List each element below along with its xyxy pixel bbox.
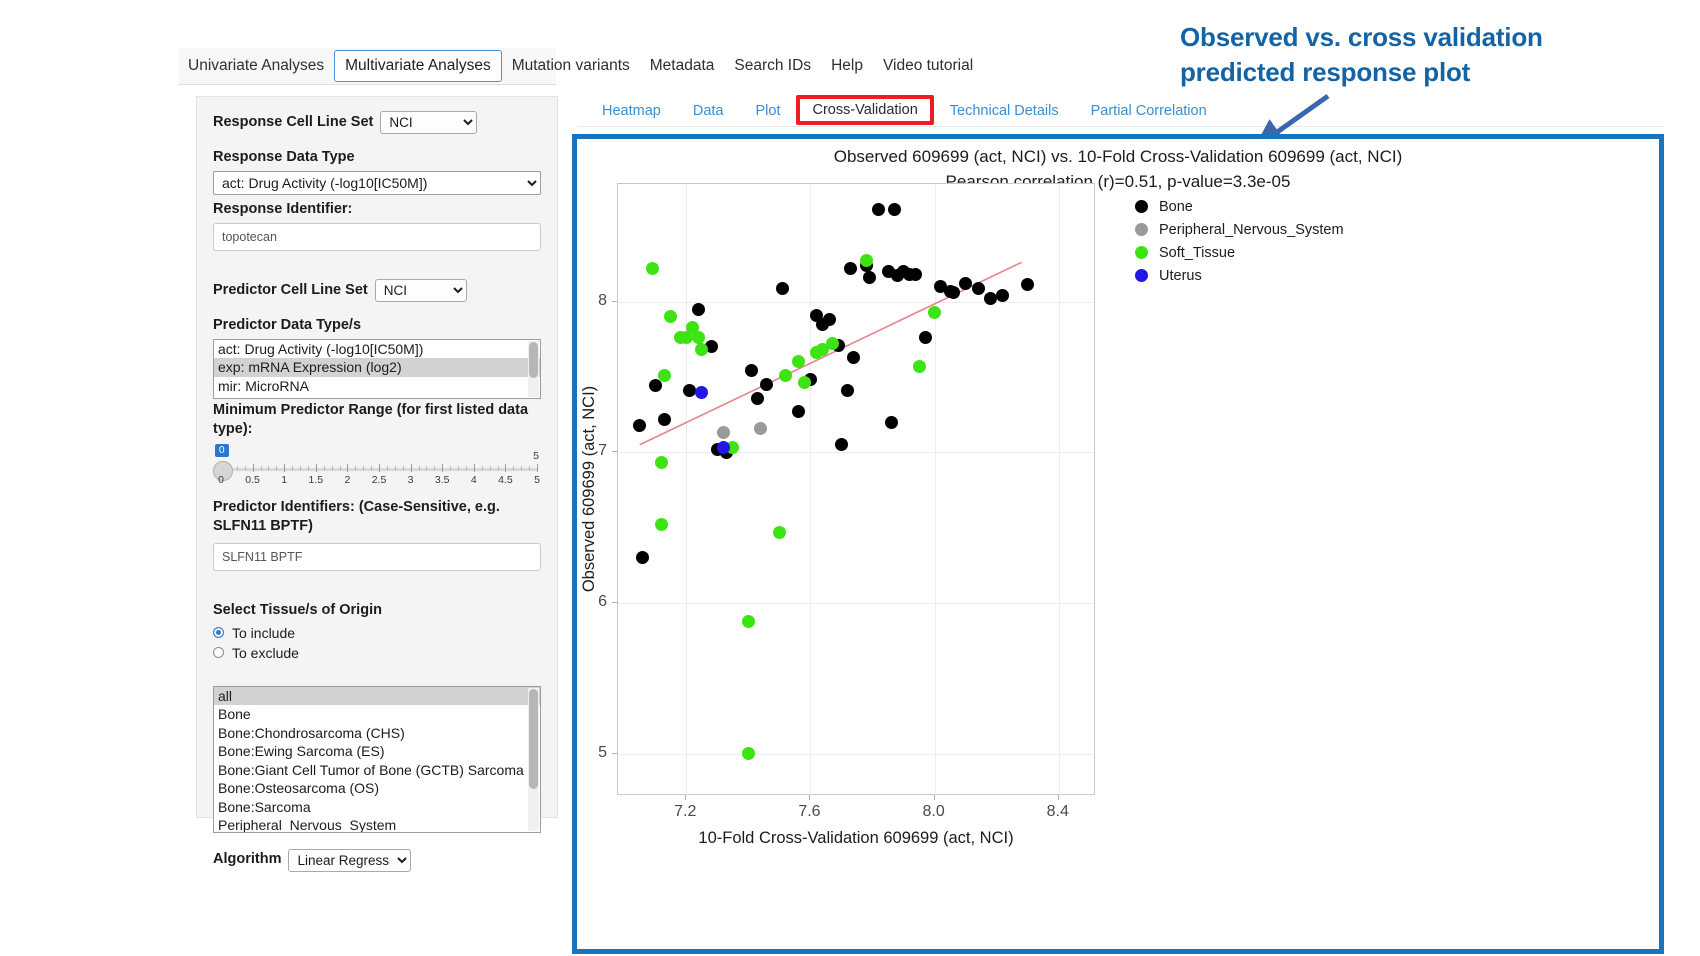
tissue-option[interactable]: Bone:Osteosarcoma (OS): [214, 779, 540, 798]
subtab-plot[interactable]: Plot: [739, 100, 796, 122]
trend-line: [618, 184, 1096, 796]
slider-tick-label: 1.5: [308, 474, 323, 486]
y-tick-label: 8: [598, 292, 607, 310]
tab-search-ids[interactable]: Search IDs: [724, 51, 821, 82]
plot-axes-box: [617, 183, 1095, 795]
radio-include-icon[interactable]: [213, 627, 224, 638]
slider-tick-label: 5: [534, 474, 540, 486]
predictor-cell-line-set-label: Predictor Cell Line Set: [213, 281, 368, 301]
legend-item: Bone: [1135, 195, 1344, 218]
predictor-data-type-option[interactable]: exp: mRNA Expression (log2): [214, 358, 540, 377]
listbox-scroll-thumb[interactable]: [529, 342, 538, 378]
min-predictor-range-label: Minimum Predictor Range (for first liste…: [213, 401, 541, 440]
tissue-option[interactable]: Bone:Ewing Sarcoma (ES): [214, 742, 540, 761]
slider-tick-label: 0.5: [245, 474, 260, 486]
response-data-type-label: Response Data Type: [213, 148, 541, 168]
y-tick-mark: [612, 753, 617, 754]
tissue-option[interactable]: Peripheral_Nervous_System: [214, 816, 540, 833]
x-tick-mark: [809, 795, 810, 800]
response-cell-line-set-select[interactable]: NCI: [380, 111, 477, 134]
slider-tick-label: 4: [471, 474, 477, 486]
x-tick-label: 8.0: [922, 803, 944, 821]
scatter-point: [754, 422, 767, 435]
scatter-point: [972, 282, 985, 295]
legend-label: Peripheral_Nervous_System: [1159, 222, 1344, 238]
legend-dot-icon: [1135, 223, 1148, 236]
y-tick-mark: [612, 301, 617, 302]
predictor-data-type-option[interactable]: mth: DNA 850K Methylation: [214, 395, 540, 399]
tissue-option[interactable]: Bone: [214, 705, 540, 724]
y-tick-label: 7: [598, 442, 607, 460]
slider-tick-label: 1: [281, 474, 287, 486]
scatter-point: [633, 419, 646, 432]
scatter-chart: 7.27.68.08.45678Observed 609699 (act, NC…: [577, 139, 1659, 949]
legend-item: Peripheral_Nervous_System: [1135, 218, 1344, 241]
x-tick-label: 8.4: [1047, 803, 1069, 821]
listbox-scrollbar[interactable]: [528, 341, 539, 397]
response-cell-line-set-row: Response Cell Line Set NCI: [213, 111, 541, 134]
scatter-point: [792, 355, 805, 368]
chart-legend: BonePeripheral_Nervous_SystemSoft_Tissue…: [1135, 195, 1344, 287]
legend-dot-icon: [1135, 200, 1148, 213]
tissue-option[interactable]: Bone:Chondrosarcoma (CHS): [214, 724, 540, 743]
listbox-scroll-thumb[interactable]: [529, 689, 538, 789]
slider-tick-label: 0: [218, 474, 224, 486]
y-tick-label: 5: [598, 744, 607, 762]
response-data-type-select[interactable]: act: Drug Activity (-log10[IC50M]): [213, 171, 541, 195]
y-tick-label: 6: [598, 593, 607, 611]
tab-multivariate-analyses[interactable]: Multivariate Analyses: [334, 50, 502, 83]
tissue-include-label: To include: [232, 625, 295, 641]
scatter-point: [776, 282, 789, 295]
tissue-option[interactable]: Bone:Sarcoma: [214, 798, 540, 817]
algorithm-select[interactable]: Linear Regression: [288, 849, 411, 872]
x-tick-mark: [1058, 795, 1059, 800]
tab-mutation-variants[interactable]: Mutation variants: [502, 51, 640, 82]
tissue-options-listbox[interactable]: all Bone Bone:Chondrosarcoma (CHS) Bone:…: [213, 686, 541, 833]
tissue-option[interactable]: Bone:Giant Cell Tumor of Bone (GCTB) Sar…: [214, 761, 540, 780]
x-axis-title: 10-Fold Cross-Validation 609699 (act, NC…: [698, 829, 1013, 848]
scatter-point: [692, 303, 705, 316]
algorithm-row: Algorithm Linear Regression: [213, 849, 541, 872]
x-tick-label: 7.2: [674, 803, 696, 821]
x-tick-mark: [934, 795, 935, 800]
predictor-identifiers-input[interactable]: [213, 543, 541, 571]
tissue-of-origin-label: Select Tissue/s of Origin: [213, 601, 541, 621]
algorithm-label: Algorithm: [213, 850, 281, 870]
tab-univariate-analyses[interactable]: Univariate Analyses: [178, 51, 334, 82]
scatter-point: [779, 369, 792, 382]
slider-tick-label: 3: [408, 474, 414, 486]
scatter-point: [646, 262, 659, 275]
min-predictor-range-slider[interactable]: 0 5 00.511.522.533.544.55: [213, 444, 541, 488]
scatter-point: [658, 413, 671, 426]
cross-validation-plot-panel: Observed 609699 (act, NCI) vs. 10-Fold C…: [572, 134, 1664, 954]
slider-tick-label: 2.5: [372, 474, 387, 486]
legend-label: Bone: [1159, 199, 1193, 215]
tissue-exclude-label: To exclude: [232, 645, 299, 661]
slider-max-label: 5: [533, 450, 539, 462]
slider-tick-label: 3.5: [435, 474, 450, 486]
legend-item: Soft_Tissue: [1135, 241, 1344, 264]
slider-ticks: [221, 464, 537, 474]
y-tick-mark: [612, 602, 617, 603]
slider-tick-label: 4.5: [498, 474, 513, 486]
scatter-point: [792, 405, 805, 418]
scatter-point: [928, 306, 941, 319]
legend-dot-icon: [1135, 246, 1148, 259]
predictor-data-types-listbox[interactable]: act: Drug Activity (-log10[IC50M]) exp: …: [213, 339, 541, 399]
subtab-partial-correlation[interactable]: Partial Correlation: [1075, 100, 1223, 122]
legend-label: Soft_Tissue: [1159, 245, 1235, 261]
scatter-point: [695, 386, 708, 399]
response-identifier-input[interactable]: [213, 223, 541, 251]
scatter-point: [658, 369, 671, 382]
slider-tick-label: 2: [344, 474, 350, 486]
annotation-text: Observed vs. cross validation predicted …: [1180, 20, 1610, 90]
scatter-point: [888, 203, 901, 216]
tab-help[interactable]: Help: [821, 51, 873, 82]
predictor-data-type-option[interactable]: act: Drug Activity (-log10[IC50M]): [214, 340, 540, 359]
legend-item: Uterus: [1135, 264, 1344, 287]
settings-panel: Response Cell Line Set NCI Response Data…: [196, 96, 558, 818]
scatter-point: [683, 384, 696, 397]
scatter-point: [885, 416, 898, 429]
y-tick-mark: [612, 451, 617, 452]
predictor-data-type-option[interactable]: mir: MicroRNA: [214, 377, 540, 396]
tissue-include-radio-row[interactable]: To include: [213, 625, 541, 641]
tab-video-tutorial[interactable]: Video tutorial: [873, 51, 983, 82]
scatter-point: [742, 615, 755, 628]
radio-exclude-icon[interactable]: [213, 647, 224, 658]
tissue-option[interactable]: all: [214, 687, 540, 706]
scatter-point: [863, 271, 876, 284]
response-cell-line-set-label: Response Cell Line Set: [213, 113, 373, 133]
scatter-point: [913, 360, 926, 373]
tab-metadata[interactable]: Metadata: [640, 51, 725, 82]
predictor-cell-line-set-row: Predictor Cell Line Set NCI: [213, 279, 541, 302]
scatter-point: [773, 526, 786, 539]
slider-value-bubble: 0: [215, 444, 229, 457]
slider-tick-labels: 00.511.522.533.544.55: [221, 474, 537, 488]
tissue-exclude-radio-row[interactable]: To exclude: [213, 645, 541, 661]
subtab-heatmap[interactable]: Heatmap: [586, 100, 677, 122]
predictor-identifiers-label: Predictor Identifiers: (Case-Sensitive, …: [213, 498, 541, 537]
y-axis-title: Observed 609699 (act, NCI): [580, 386, 599, 592]
scatter-point: [947, 286, 960, 299]
scatter-point: [826, 337, 839, 350]
predictor-cell-line-set-select[interactable]: NCI: [375, 279, 467, 302]
x-tick-label: 7.6: [798, 803, 820, 821]
x-tick-mark: [685, 795, 686, 800]
scatter-point: [984, 292, 997, 305]
top-nav-tabs: Univariate Analyses Multivariate Analyse…: [178, 48, 983, 84]
scatter-point: [823, 313, 836, 326]
subtab-technical-details[interactable]: Technical Details: [934, 100, 1075, 122]
scatter-point: [919, 331, 932, 344]
subtab-cross-validation[interactable]: Cross-Validation: [796, 95, 933, 125]
app-root: Univariate Analyses Multivariate Analyse…: [0, 0, 1700, 956]
scatter-point: [751, 392, 764, 405]
legend-label: Uterus: [1159, 268, 1202, 284]
sub-nav-tabs: Heatmap Data Plot Cross-Validation Techn…: [586, 96, 1223, 126]
subtab-data[interactable]: Data: [677, 100, 740, 122]
listbox-scrollbar[interactable]: [528, 688, 539, 831]
legend-dot-icon: [1135, 269, 1148, 282]
response-identifier-label: Response Identifier:: [213, 200, 541, 220]
predictor-data-types-label: Predictor Data Type/s: [213, 316, 541, 336]
